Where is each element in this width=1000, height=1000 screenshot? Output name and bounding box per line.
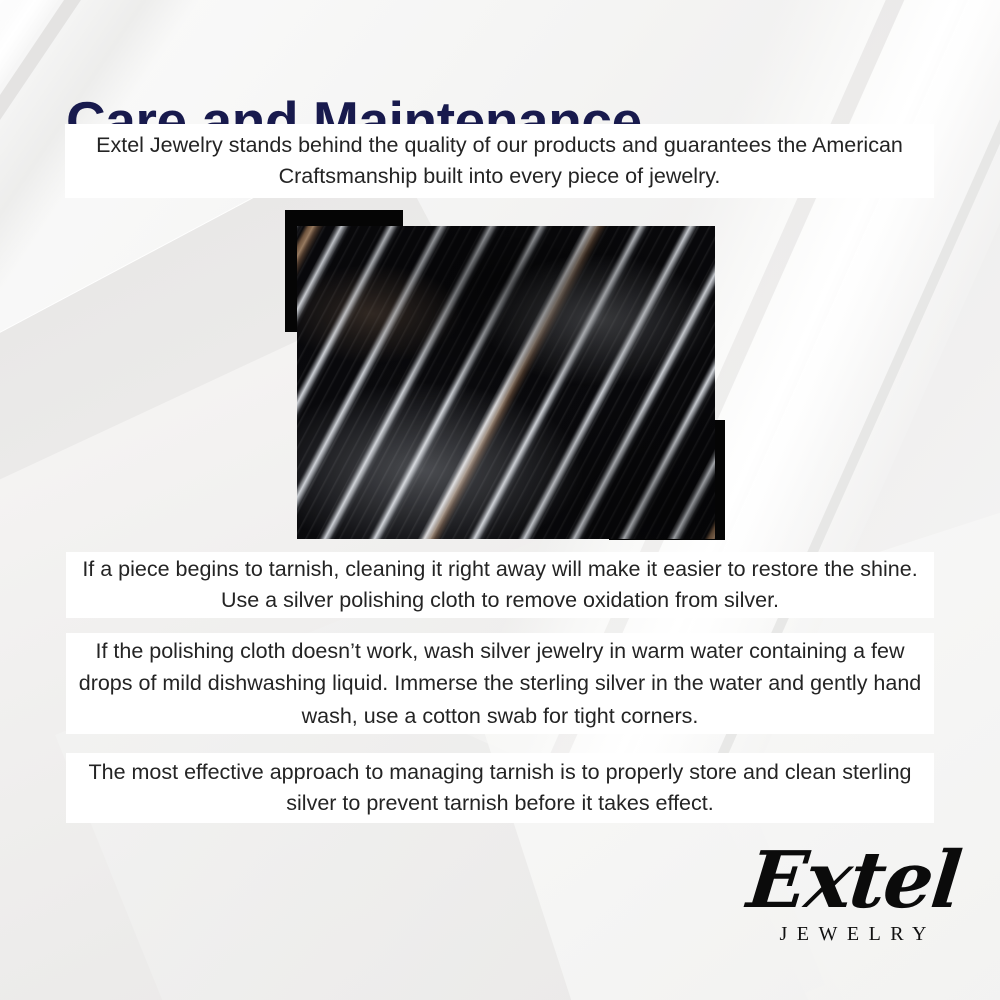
intro-text-plate: Extel Jewelry stands behind the quality …	[65, 124, 934, 198]
silver-chains-photo	[297, 226, 715, 539]
product-photo-block	[285, 210, 725, 540]
paragraph-plate-1: If a piece begins to tarnish, cleaning i…	[66, 552, 934, 618]
brand-subtitle: JEWELRY	[748, 923, 958, 946]
brand-logo: Extel JEWELRY	[748, 844, 958, 964]
brand-wordmark: Extel	[744, 844, 962, 919]
paragraph-plate-3: The most effective approach to managing …	[66, 753, 934, 823]
paragraph-text-1: If a piece begins to tarnish, cleaning i…	[66, 554, 934, 616]
intro-text: Extel Jewelry stands behind the quality …	[65, 130, 934, 192]
paragraph-text-3: The most effective approach to managing …	[66, 757, 934, 819]
poster-canvas: Care and Maintenance Extel Jewelry stand…	[0, 0, 1000, 1000]
paragraph-text-2: If the polishing cloth doesn’t work, was…	[66, 635, 934, 732]
chains-highlight-overlay	[297, 226, 715, 539]
paragraph-plate-2: If the polishing cloth doesn’t work, was…	[66, 633, 934, 734]
